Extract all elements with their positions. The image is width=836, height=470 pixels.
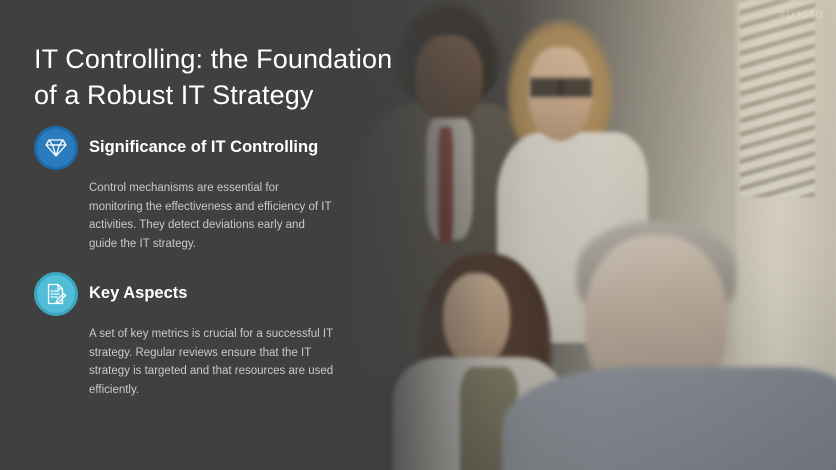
block-body-text: A set of key metrics is crucial for a su… <box>34 325 334 400</box>
block-body-text: Control mechanisms are essential for mon… <box>34 179 334 254</box>
document-pen-icon <box>34 272 78 316</box>
presentation-slide: IT Controlling: the Foundation of a Robu… <box>0 0 836 470</box>
diamond-icon <box>34 126 78 170</box>
page-title: IT Controlling: the Foundation of a Robu… <box>34 42 414 113</box>
content-block-significance: Significance of IT Controlling Control m… <box>34 126 334 254</box>
block-heading: Key Aspects <box>34 272 334 316</box>
block-heading: Significance of IT Controlling <box>34 126 334 170</box>
content-block-key-aspects: Key Aspects A set of key metrics is cruc… <box>34 272 334 400</box>
slide-content: IT Controlling: the Foundation of a Robu… <box>0 0 836 470</box>
watermark-label: #D3080 <box>779 9 823 21</box>
